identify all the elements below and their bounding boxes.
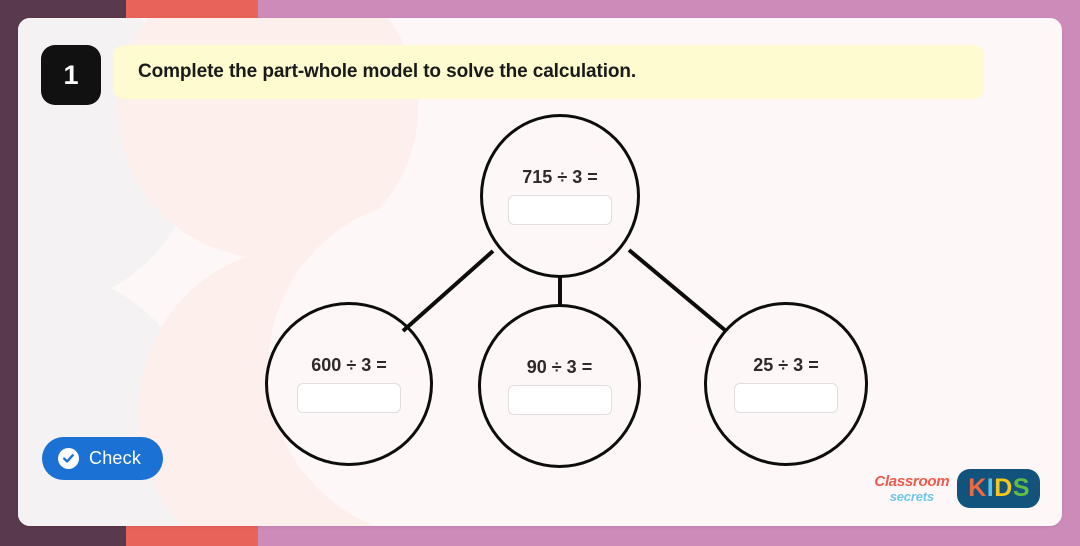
question-card: 1 Complete the part-whole model to solve… xyxy=(18,18,1062,526)
question-text: Complete the part-whole model to solve t… xyxy=(138,61,636,83)
question-number-label: 1 xyxy=(63,60,78,91)
check-button[interactable]: Check xyxy=(42,437,163,480)
kids-letter-d: D xyxy=(994,474,1012,503)
part-2-answer-input[interactable] xyxy=(508,385,612,415)
whole-answer-input[interactable] xyxy=(508,195,612,225)
check-circle-icon xyxy=(58,448,79,469)
whole-node: 715 ÷ 3 = xyxy=(480,114,640,278)
kids-logo: K I D S xyxy=(957,469,1040,508)
part-node-3-label: 25 ÷ 3 = xyxy=(753,355,818,376)
whole-node-label: 715 ÷ 3 = xyxy=(522,167,597,188)
check-button-label: Check xyxy=(89,448,141,469)
question-number-badge: 1 xyxy=(41,45,101,105)
footer-logos: Classroom secrets K I D S xyxy=(874,469,1040,508)
classroom-secrets-line1: Classroom xyxy=(874,474,949,489)
part-node-1: 600 ÷ 3 = xyxy=(265,302,433,466)
question-banner: Complete the part-whole model to solve t… xyxy=(114,45,984,99)
part-node-1-label: 600 ÷ 3 = xyxy=(311,355,386,376)
worksheet-page: 1 Complete the part-whole model to solve… xyxy=(0,0,1080,546)
part-1-answer-input[interactable] xyxy=(297,383,401,413)
part-3-answer-input[interactable] xyxy=(734,383,838,413)
part-node-2-label: 90 ÷ 3 = xyxy=(527,357,592,378)
kids-letter-i: I xyxy=(987,474,993,503)
kids-letter-s: S xyxy=(1013,474,1029,503)
classroom-secrets-logo: Classroom secrets xyxy=(874,474,949,503)
kids-letter-k: K xyxy=(968,474,986,503)
classroom-secrets-line2: secrets xyxy=(890,490,934,503)
part-node-3: 25 ÷ 3 = xyxy=(704,302,868,466)
part-node-2: 90 ÷ 3 = xyxy=(478,304,641,468)
